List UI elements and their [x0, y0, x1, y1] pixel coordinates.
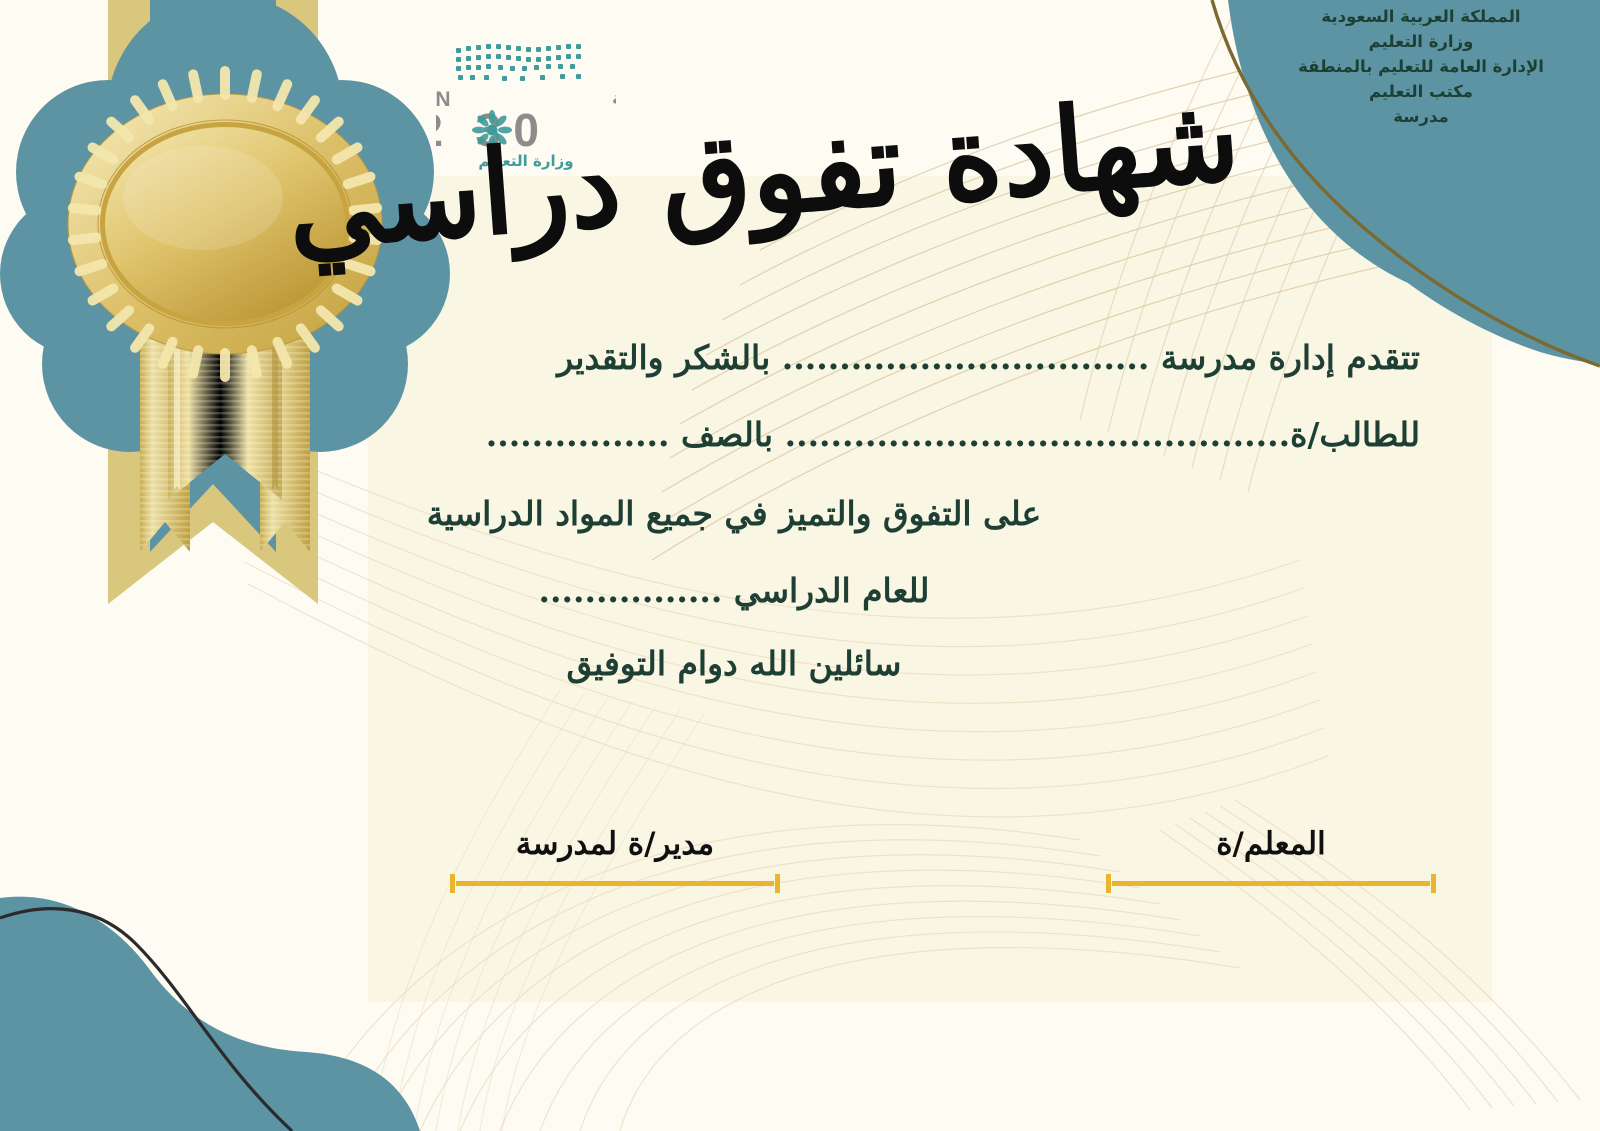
signature-teacher: المعلم/ة — [1106, 826, 1436, 892]
signature-principal-line — [450, 874, 780, 892]
signature-teacher-label: المعلم/ة — [1106, 826, 1436, 862]
certificate-title: شهادة تفوق دراسي — [536, 79, 1243, 252]
body-line-2: للطالب/ة................................… — [160, 415, 1430, 454]
ministry-line-office: مكتب التعليم — [1256, 79, 1586, 104]
ministry-line-ministry: وزارة التعليم — [1256, 29, 1586, 54]
body-line-3: على التفوق والتميز في جميع المواد الدراس… — [160, 494, 1430, 533]
vision-wordmark-arabic: رؤية — [612, 89, 616, 109]
body-line-1: تتقدم إدارة مدرسة ......................… — [160, 338, 1430, 377]
ministry-line-country: المملكة العربية السعودية — [1256, 4, 1586, 29]
body-line-4: للعام الدراسي ................ — [160, 571, 1430, 610]
ministry-line-admin: الإدارة العامة للتعليم بالمنطقة — [1256, 54, 1586, 79]
body-line-5: سائلين الله دوام التوفيق — [160, 644, 1430, 683]
signature-teacher-line — [1106, 874, 1436, 892]
ministry-header: المملكة العربية السعودية وزارة التعليم ا… — [1256, 4, 1586, 129]
ministry-line-school: مدرسة — [1256, 104, 1586, 129]
certificate-body: تتقدم إدارة مدرسة ......................… — [160, 338, 1430, 683]
signature-principal-label: مدير/ة لمدرسة — [450, 826, 780, 862]
signature-principal: مدير/ة لمدرسة — [450, 826, 780, 892]
certificate-page: VISION رؤية 2 3 0 — [0, 0, 1600, 1131]
